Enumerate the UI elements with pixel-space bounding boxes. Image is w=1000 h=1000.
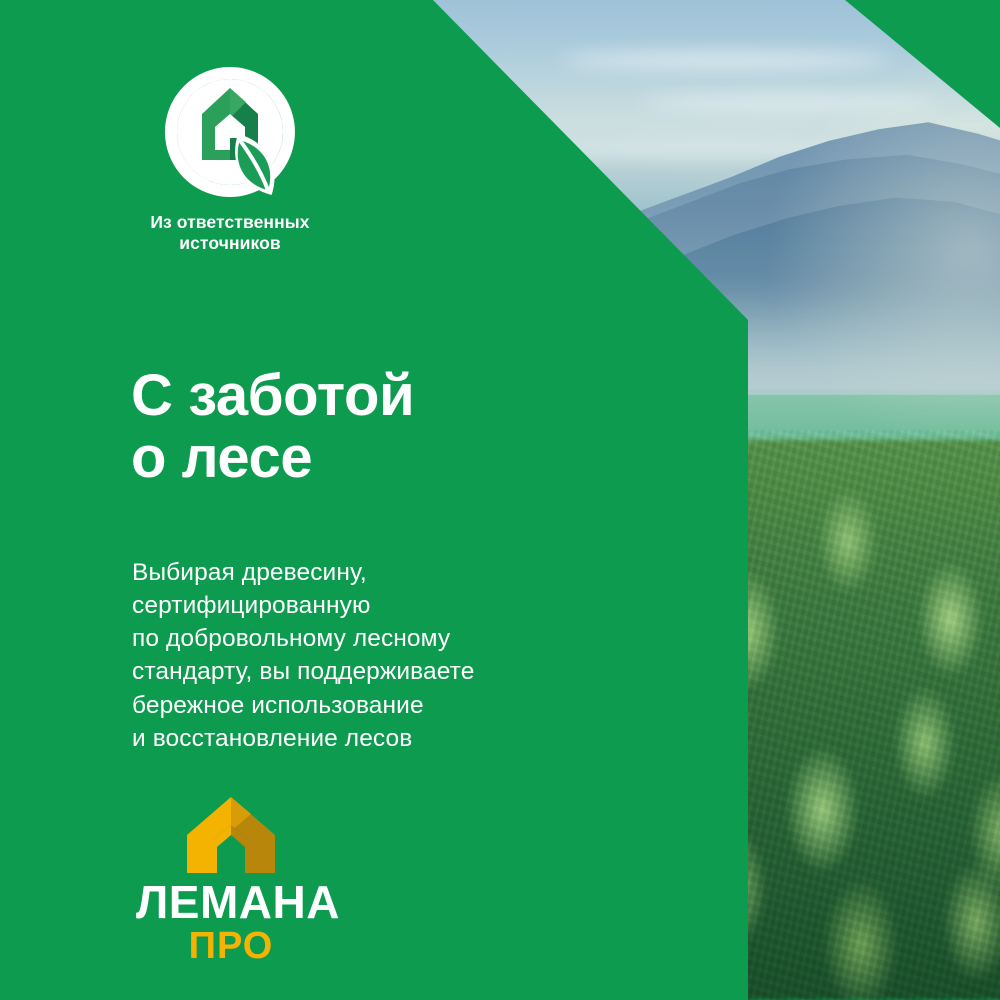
poster-content: Из ответственных источников С заботой о … <box>0 0 1000 1000</box>
badge-caption-line-2: источников <box>132 233 328 254</box>
badge-caption: Из ответственных источников <box>132 212 328 255</box>
lemana-house-icon <box>183 795 279 875</box>
house-leaf-circle-icon <box>160 62 300 202</box>
brand-name: ЛЕМАНА <box>136 879 326 925</box>
body-copy: Выбирая древесину, сертифицированную по … <box>132 556 474 756</box>
lemana-pro-logo: ЛЕМАНА ПРО <box>136 795 326 965</box>
badge-caption-line-1: Из ответственных <box>132 212 328 233</box>
brand-sub: ПРО <box>136 927 326 965</box>
page-title: С заботой о лесе <box>131 365 414 489</box>
poster-root: Из ответственных источников С заботой о … <box>0 0 1000 1000</box>
responsible-sources-badge: Из ответственных источников <box>132 62 328 255</box>
